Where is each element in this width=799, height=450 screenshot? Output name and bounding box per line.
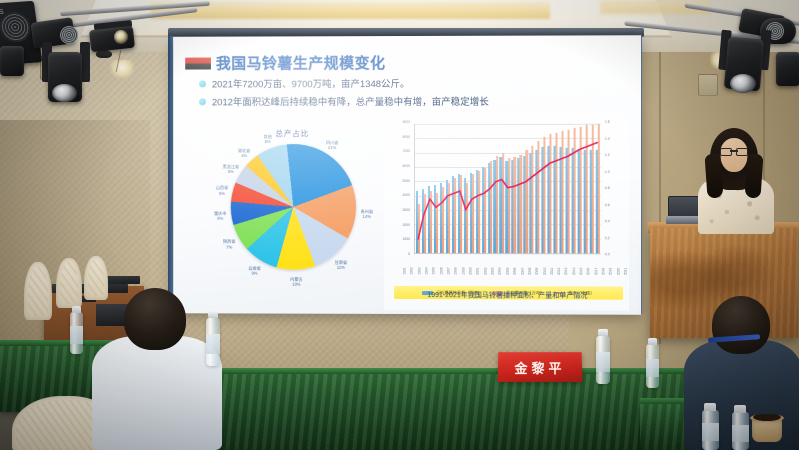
water-bottle	[732, 412, 749, 450]
pie-slice-label: 四川省21%	[318, 140, 346, 151]
y2-tick: 1.2	[605, 153, 610, 157]
audience-head	[124, 288, 186, 350]
y-tick: 9000	[402, 120, 410, 124]
glasses-icon	[720, 148, 748, 154]
pie-slice-label: 其他8%	[254, 134, 282, 144]
chart-caption: 1991-2021年我国马铃薯播种面积、产量和单产情况	[382, 290, 633, 301]
bottle-label	[702, 423, 719, 441]
bottle-cap	[598, 329, 608, 336]
bullet-dot-icon	[199, 80, 206, 87]
y-axis-right-ticks: 1.61.41.21.00.80.60.40.20.0	[603, 120, 629, 257]
bottle-cap	[704, 403, 716, 411]
y-axis-left-ticks: 9000800070006000500040003000200010000	[384, 120, 412, 256]
tea-cup-rim	[750, 414, 784, 422]
y-tick: 0	[408, 252, 410, 256]
bottle-label	[732, 425, 749, 442]
pie-slice-label: 陕西省7%	[215, 239, 243, 250]
y2-tick: 1.6	[605, 120, 610, 124]
pie-slice-label: 湖北省4%	[230, 148, 258, 158]
presentation-slide: 我国马铃薯生产规模变化 2021年7200万亩、9700万吨，亩产1348公斤。…	[173, 35, 641, 315]
y-tick: 6000	[402, 164, 410, 168]
bullet-text: 2021年7200万亩、9700万吨，亩产1348公斤。	[212, 76, 410, 90]
y-tick: 3000	[402, 208, 410, 212]
bottle-cap	[648, 338, 657, 345]
bottle-label	[206, 334, 220, 354]
conference-room-photo: NS	[0, 0, 799, 450]
pie-disc	[231, 144, 356, 270]
bottle-cap	[208, 311, 218, 318]
yield-polyline	[418, 142, 598, 240]
placard-name-text: 金黎平	[514, 358, 565, 377]
cove-light	[150, 2, 550, 19]
stage-light-fixture	[0, 46, 30, 80]
bottle-label	[646, 359, 659, 377]
slide-bullet-2: 2012年面积达峰后持续稳中有降，总产量稳中有增，亩产稳定增长	[199, 94, 489, 108]
y-tick: 7000	[402, 149, 410, 153]
water-bottle	[646, 344, 659, 388]
x-axis-ticks: 1991199219931994199519961997199819992000…	[414, 256, 601, 286]
bottle-cap	[72, 306, 81, 313]
pie-chart: 总产占比 四川省21%贵州省14%甘肃省11%内蒙古10%云南省9%陕西省7%重…	[193, 128, 392, 308]
x-tick: 2021	[624, 268, 641, 275]
moving-head-light	[38, 42, 108, 110]
pie-slice-label: 黑龙江省5%	[217, 164, 245, 174]
water-bottle	[206, 318, 220, 366]
fixture-lens	[114, 30, 128, 44]
y-tick: 4000	[402, 193, 410, 197]
audience-head	[712, 296, 770, 354]
pie-slice-label: 甘肃省11%	[327, 259, 355, 270]
presenter-hair-left	[704, 153, 723, 198]
fixture-body	[776, 52, 799, 86]
water-bottle	[596, 336, 610, 384]
y-tick: 8000	[402, 135, 410, 139]
y2-tick: 0.0	[605, 252, 610, 256]
pie-chart-title: 总产占比	[193, 128, 392, 139]
y-tick: 1000	[402, 237, 410, 241]
audience-torso	[92, 336, 222, 450]
table-skirt	[170, 374, 690, 450]
bullet-dot-icon	[199, 98, 206, 105]
presenter-hair-right	[744, 153, 763, 198]
presenter	[688, 128, 784, 232]
slide-title-row: 我国马铃薯生产规模变化	[185, 52, 385, 73]
pie-slice-label: 云南省9%	[241, 266, 269, 277]
chair	[56, 258, 82, 308]
title-accent-bar	[185, 57, 211, 69]
y2-tick: 1.0	[605, 169, 610, 173]
bar-line-chart: 9000800070006000500040003000200010000 1.…	[384, 114, 629, 311]
water-bottle	[70, 312, 83, 354]
y2-tick: 0.6	[605, 203, 610, 207]
pie-slice-label: 贵州省14%	[353, 209, 381, 220]
y2-tick: 1.4	[605, 136, 610, 140]
bullet-text: 2012年面积达峰后持续稳中有降，总产量稳中有增，亩产稳定增长	[212, 94, 489, 108]
glasses-bridge	[730, 150, 738, 151]
y-tick: 2000	[402, 223, 410, 227]
audience-member-left	[92, 288, 222, 450]
screen-left-edge	[168, 36, 173, 314]
chair-fabric-pattern	[60, 262, 78, 304]
bottle-cap	[734, 405, 746, 413]
y2-tick: 0.8	[605, 186, 610, 190]
speaker-brand-text: NS	[0, 9, 5, 17]
y2-tick: 0.4	[605, 219, 610, 223]
water-bottle	[702, 410, 719, 450]
slide-title: 我国马铃薯生产规模变化	[216, 52, 386, 73]
pie-slice-label: 山西省5%	[208, 185, 236, 195]
chair-fabric-pattern	[28, 266, 48, 316]
fixture-lens	[730, 74, 756, 93]
fixture-lens	[52, 84, 77, 102]
pie-slice-label: 重庆市6%	[206, 211, 234, 221]
pie-slice-label: 内蒙古10%	[282, 277, 310, 288]
bottle-label	[70, 326, 83, 344]
bottle-label	[596, 352, 610, 372]
projection-screen: 我国马铃薯生产规模变化 2021年7200万亩、9700万吨，亩产1348公斤。…	[173, 35, 641, 315]
y-tick: 5000	[402, 179, 410, 183]
plot-area	[414, 124, 601, 255]
fixture-body	[0, 46, 24, 76]
y2-tick: 0.2	[605, 236, 610, 240]
slide-bullet-1: 2021年7200万亩、9700万吨，亩产1348公斤。	[199, 76, 409, 90]
stage-light-fixture	[776, 52, 799, 92]
name-placard: 金黎平	[498, 352, 583, 382]
chair	[24, 262, 52, 320]
